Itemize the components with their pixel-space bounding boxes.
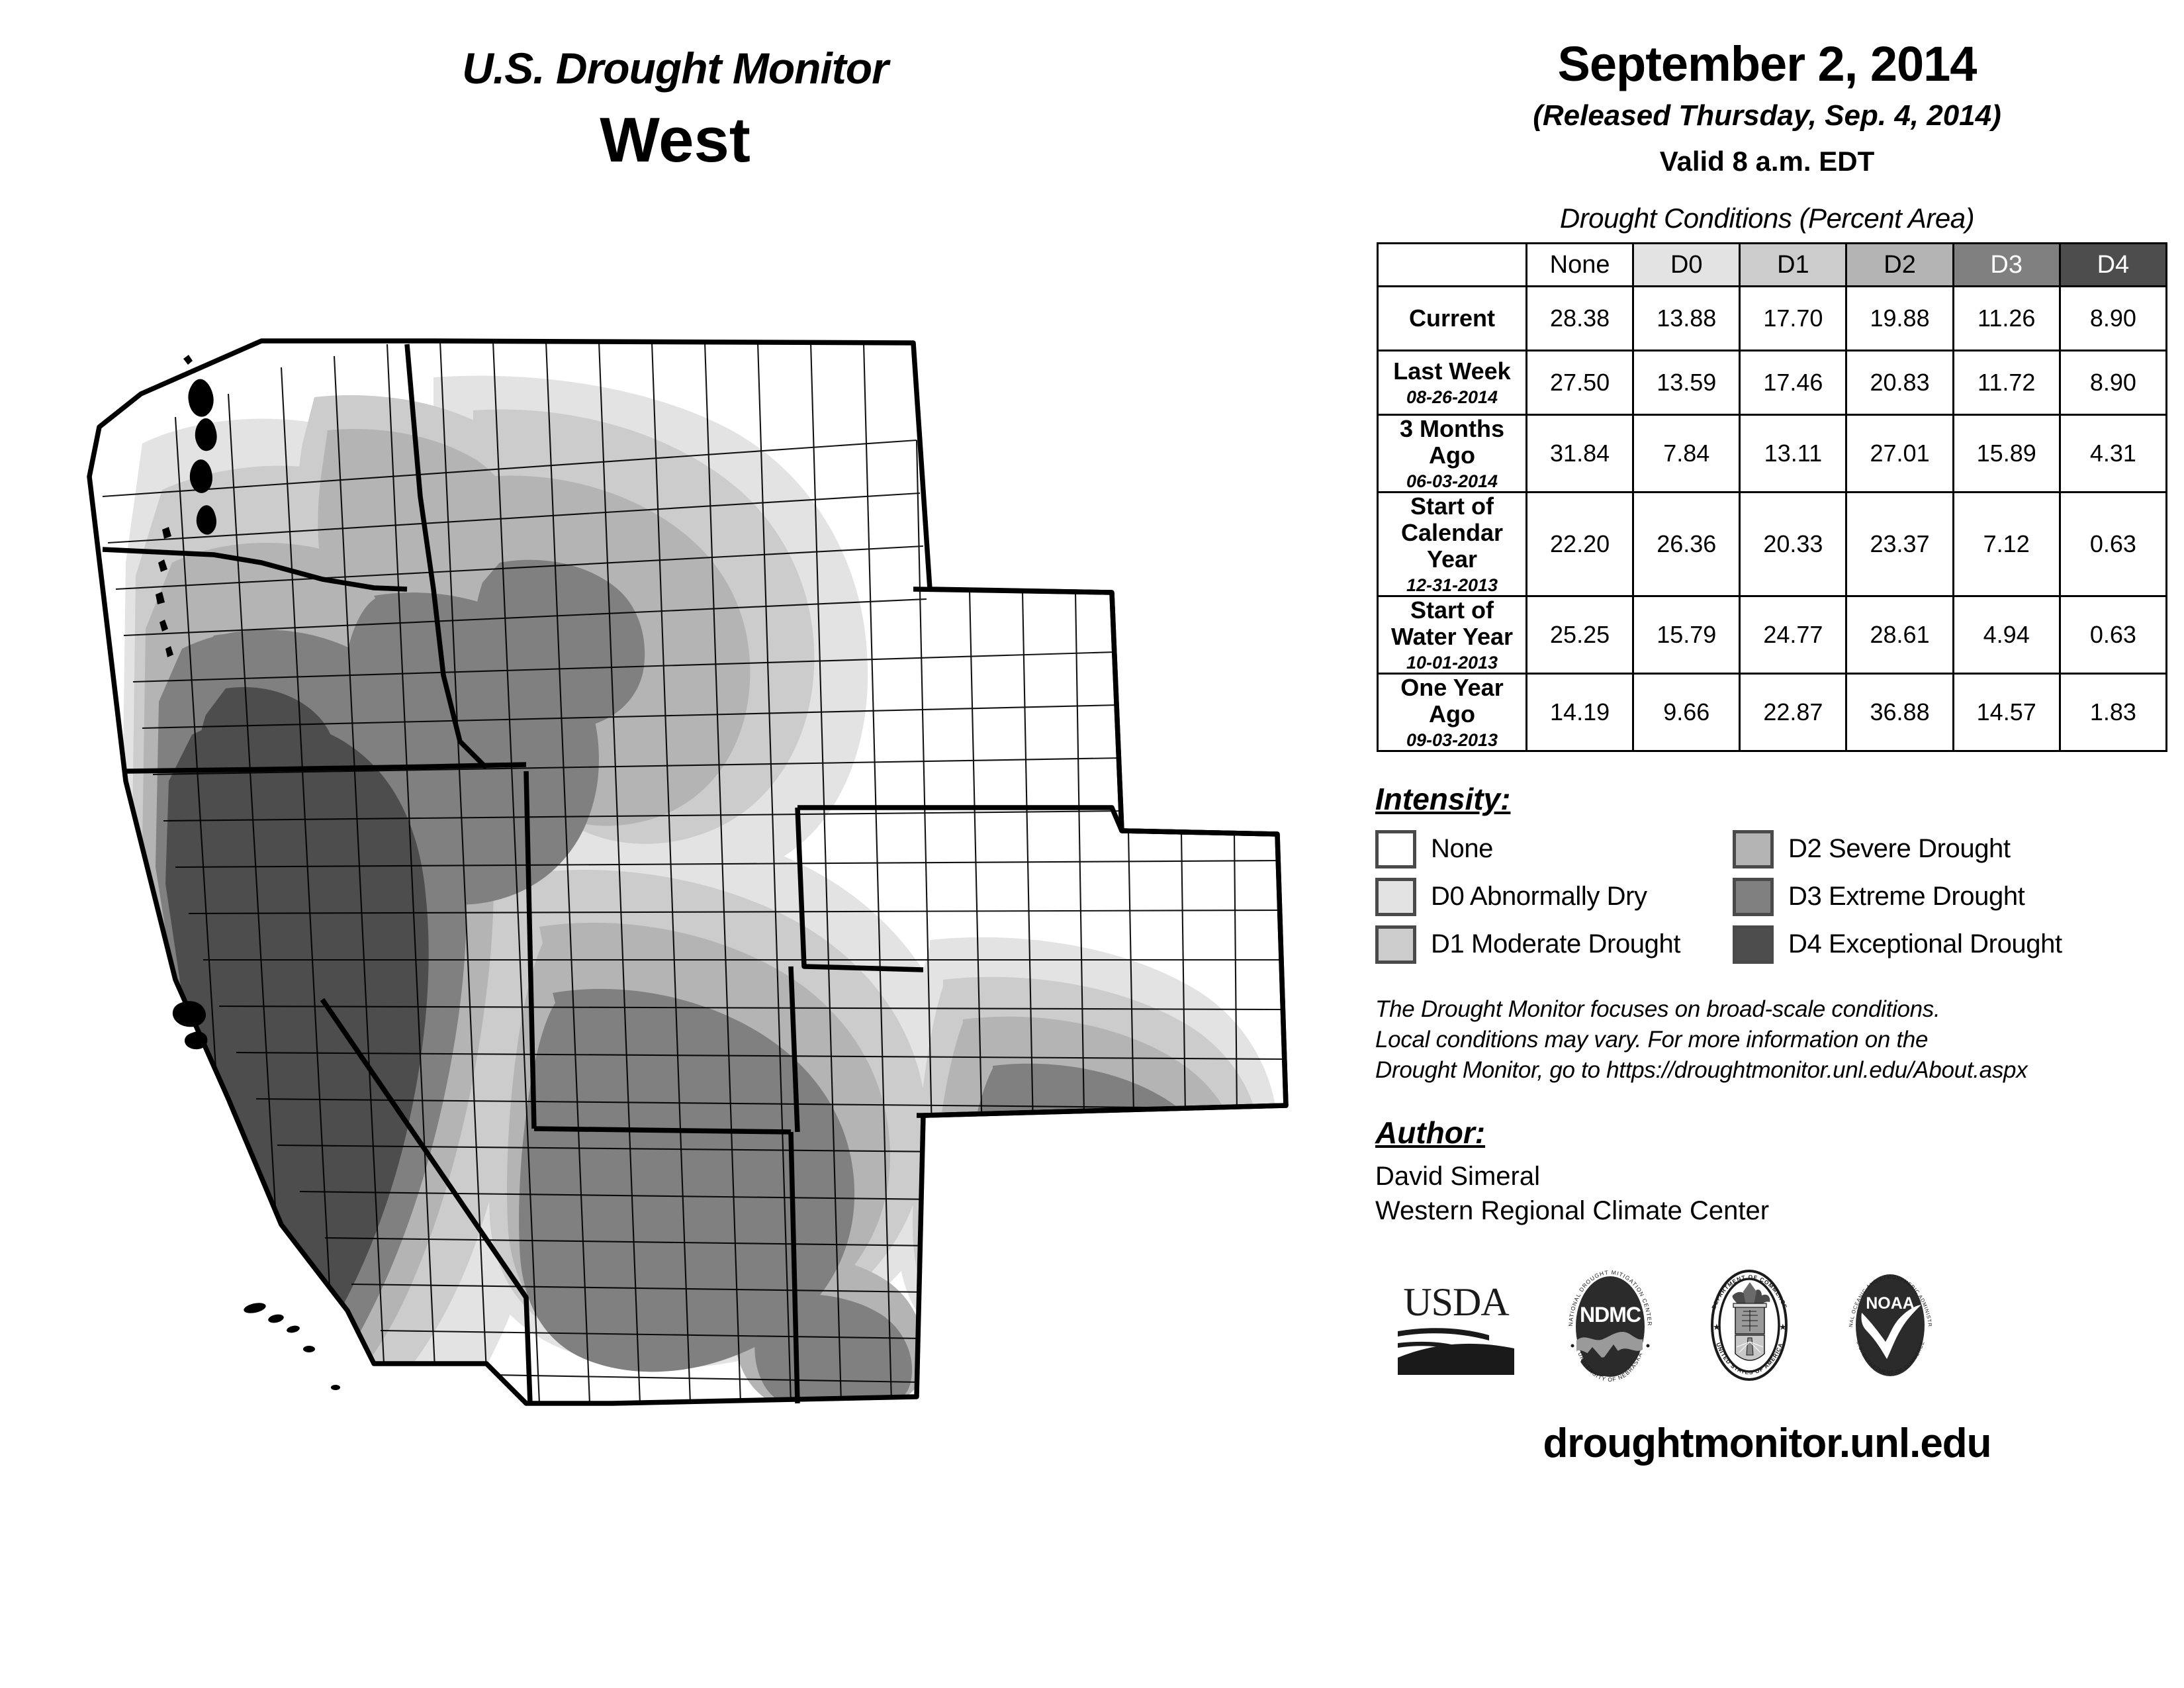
release-date: (Released Thursday, Sep. 4, 2014) <box>1363 99 2171 132</box>
cell-d3: 15.89 <box>1953 415 2060 492</box>
swatch-none-icon <box>1375 830 1416 868</box>
svg-text:NDMC: NDMC <box>1580 1303 1641 1327</box>
swatch-d0-icon <box>1375 878 1416 916</box>
cell-none: 31.84 <box>1527 415 1633 492</box>
cell-d3: 11.72 <box>1953 351 2060 415</box>
channel-islands <box>243 1301 340 1390</box>
legend-label: None <box>1431 834 1493 864</box>
region-title: West <box>251 107 1099 174</box>
legend-item-d3: D3 Extreme Drought <box>1733 878 2171 916</box>
doc-seal-icon: DEPARTMENT OF COMMERCE UNITED STATES OF … <box>1698 1261 1801 1390</box>
cell-d2: 20.83 <box>1846 351 1953 415</box>
map-svg <box>63 278 1340 1430</box>
report-date: September 2, 2014 <box>1363 40 2171 89</box>
legend-label: D2 Severe Drought <box>1788 834 2011 864</box>
row-label-3-months-ago: 3 Months Ago 06-03-2014 <box>1378 415 1527 492</box>
svg-text:USDA: USDA <box>1403 1280 1509 1324</box>
swatch-d1-icon <box>1375 925 1416 964</box>
legend-label: D1 Moderate Drought <box>1431 929 1680 959</box>
col-header-d0: D0 <box>1633 244 1740 287</box>
legend-item-d4: D4 Exceptional Drought <box>1733 925 2171 964</box>
doc-star-left-icon: ★ <box>1713 1322 1721 1332</box>
cell-d3: 11.26 <box>1953 287 2060 351</box>
intensity-legend: Intensity: None D2 Severe Drought D0 Abn… <box>1375 781 2171 964</box>
cell-d4: 0.63 <box>2060 596 2166 674</box>
doc-star-right-icon: ★ <box>1779 1322 1787 1332</box>
col-header-d1: D1 <box>1740 244 1846 287</box>
cell-none: 22.20 <box>1527 492 1633 596</box>
table-row: Last Week 08-26-2014 27.50 13.59 17.46 2… <box>1378 351 2167 415</box>
usda-logo: USDA <box>1390 1274 1522 1380</box>
cell-d1: 17.46 <box>1740 351 1846 415</box>
cell-d1: 22.87 <box>1740 673 1846 751</box>
cell-d0: 7.84 <box>1633 415 1740 492</box>
col-header-d4: D4 <box>2060 244 2166 287</box>
ndmc-logo-icon: NDMC NATIONAL DROUGHT MITIGATION CENTER … <box>1561 1262 1660 1388</box>
row-label-date: 06-03-2014 <box>1379 471 1525 491</box>
drought-map[interactable] <box>63 278 1340 1430</box>
row-label-date: 10-01-2013 <box>1379 653 1525 673</box>
info-panel: September 2, 2014 (Released Thursday, Se… <box>1363 40 2171 1467</box>
legend-label: D3 Extreme Drought <box>1788 882 2025 912</box>
cell-d0: 9.66 <box>1633 673 1740 751</box>
author-affiliation: Western Regional Climate Center <box>1375 1194 2171 1228</box>
disclaimer-line-3[interactable]: Drought Monitor, go to https://droughtmo… <box>1375 1055 2171 1086</box>
row-label-start-of-water-year: Start of Water Year 10-01-2013 <box>1378 596 1527 674</box>
row-label-line2: Water Year <box>1391 623 1513 650</box>
cell-none: 27.50 <box>1527 351 1633 415</box>
table-corner-cell <box>1378 244 1527 287</box>
legend-label: D0 Abnormally Dry <box>1431 882 1647 912</box>
cell-d4: 8.90 <box>2060 351 2166 415</box>
cell-d1: 13.11 <box>1740 415 1846 492</box>
noaa-logo: NOAA NATIONAL OCEANIC AND ATMOSPHERIC AD… <box>1839 1261 1942 1393</box>
swatch-d2-icon <box>1733 830 1774 868</box>
cell-d2: 27.01 <box>1846 415 1953 492</box>
legend-item-none: None <box>1375 830 1733 868</box>
cell-d1: 24.77 <box>1740 596 1846 674</box>
table-row: One Year Ago 09-03-2013 14.19 9.66 22.87… <box>1378 673 2167 751</box>
valid-time: Valid 8 a.m. EDT <box>1363 146 2171 177</box>
cell-d4: 0.63 <box>2060 492 2166 596</box>
row-label-one-year-ago: One Year Ago 09-03-2013 <box>1378 673 1527 751</box>
col-header-d2: D2 <box>1846 244 1953 287</box>
row-label-last-week: Last Week 08-26-2014 <box>1378 351 1527 415</box>
cell-d3: 4.94 <box>1953 596 2060 674</box>
table-row: Start of Calendar Year 12-31-2013 22.20 … <box>1378 492 2167 596</box>
row-label-current: Current <box>1378 287 1527 351</box>
row-label-line2: Calendar Year <box>1401 519 1503 573</box>
cell-none: 28.38 <box>1527 287 1633 351</box>
row-label-line1: Start of <box>1410 492 1494 520</box>
row-label-date: 09-03-2013 <box>1379 730 1525 750</box>
cell-d3: 14.57 <box>1953 673 2060 751</box>
cell-d0: 26.36 <box>1633 492 1740 596</box>
cell-d4: 1.83 <box>2060 673 2166 751</box>
cell-d3: 7.12 <box>1953 492 2060 596</box>
col-header-none: None <box>1527 244 1633 287</box>
map-title-block: U.S. Drought Monitor West <box>251 46 1099 174</box>
usda-logo-icon: USDA <box>1390 1274 1522 1377</box>
row-label-text: 3 Months Ago <box>1400 415 1504 469</box>
logo-row: USDA NDMC NAT <box>1370 1261 2171 1393</box>
cell-d2: 23.37 <box>1846 492 1953 596</box>
date-header: September 2, 2014 (Released Thursday, Se… <box>1363 40 2171 177</box>
cell-d4: 4.31 <box>2060 415 2166 492</box>
col-header-d3: D3 <box>1953 244 2060 287</box>
drought-conditions-table: None D0 D1 D2 D3 D4 Current 28.38 13.88 … <box>1377 242 2167 752</box>
cell-d2: 28.61 <box>1846 596 1953 674</box>
cell-d1: 20.33 <box>1740 492 1846 596</box>
table-header-row: None D0 D1 D2 D3 D4 <box>1378 244 2167 287</box>
table-row: 3 Months Ago 06-03-2014 31.84 7.84 13.11… <box>1378 415 2167 492</box>
svg-text:NOAA: NOAA <box>1866 1294 1915 1313</box>
footer-url[interactable]: droughtmonitor.unl.edu <box>1363 1420 2171 1467</box>
cell-d4: 8.90 <box>2060 287 2166 351</box>
cell-d1: 17.70 <box>1740 287 1846 351</box>
table-row: Current 28.38 13.88 17.70 19.88 11.26 8.… <box>1378 287 2167 351</box>
cell-d0: 13.88 <box>1633 287 1740 351</box>
legend-item-d2: D2 Severe Drought <box>1733 830 2171 868</box>
swatch-d3-icon <box>1733 878 1774 916</box>
ndmc-logo: NDMC NATIONAL DROUGHT MITIGATION CENTER … <box>1561 1262 1660 1391</box>
cell-d0: 13.59 <box>1633 351 1740 415</box>
cell-d2: 36.88 <box>1846 673 1953 751</box>
author-title: Author: <box>1375 1115 1485 1150</box>
page-title: U.S. Drought Monitor <box>251 46 1099 90</box>
drought-monitor-page: U.S. Drought Monitor West <box>0 0 2184 1688</box>
disclaimer-line-2: Local conditions may vary. For more info… <box>1375 1025 2171 1055</box>
row-label-text: Last Week <box>1393 357 1510 385</box>
cell-none: 25.25 <box>1527 596 1633 674</box>
row-label-date: 08-26-2014 <box>1379 387 1525 407</box>
row-label-line1: Start of <box>1410 596 1494 624</box>
swatch-d4-icon <box>1733 925 1774 964</box>
cell-none: 14.19 <box>1527 673 1633 751</box>
legend-item-d0: D0 Abnormally Dry <box>1375 878 1733 916</box>
disclaimer-line-1: The Drought Monitor focuses on broad-sca… <box>1375 994 2171 1025</box>
row-label-text: One Year Ago <box>1400 674 1503 727</box>
intensity-title: Intensity: <box>1375 781 1510 817</box>
cell-d2: 19.88 <box>1846 287 1953 351</box>
table-row: Start of Water Year 10-01-2013 25.25 15.… <box>1378 596 2167 674</box>
legend-grid: None D2 Severe Drought D0 Abnormally Dry… <box>1375 830 2171 964</box>
table-caption: Drought Conditions (Percent Area) <box>1363 203 2171 234</box>
cell-d0: 15.79 <box>1633 596 1740 674</box>
author-name: David Simeral <box>1375 1160 2171 1194</box>
noaa-logo-icon: NOAA NATIONAL OCEANIC AND ATMOSPHERIC AD… <box>1839 1261 1942 1390</box>
legend-label: D4 Exceptional Drought <box>1788 929 2062 959</box>
row-label-text: Current <box>1409 305 1495 332</box>
legend-item-d1: D1 Moderate Drought <box>1375 925 1733 964</box>
row-label-start-of-calendar-year: Start of Calendar Year 12-31-2013 <box>1378 492 1527 596</box>
row-label-date: 12-31-2013 <box>1379 575 1525 595</box>
author-block: Author: David Simeral Western Regional C… <box>1375 1115 2171 1227</box>
disclaimer-text: The Drought Monitor focuses on broad-sca… <box>1375 994 2171 1086</box>
doc-seal: DEPARTMENT OF COMMERCE UNITED STATES OF … <box>1698 1261 1801 1393</box>
